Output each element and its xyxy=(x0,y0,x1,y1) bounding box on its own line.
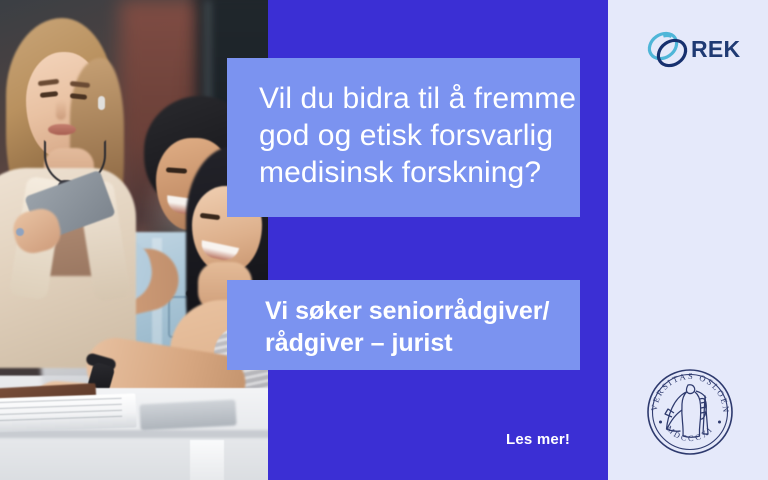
photo-keyboard xyxy=(139,400,236,431)
headline-box: Vil du bidra til å fremme god og etisk f… xyxy=(227,58,580,217)
photo-person-woman-nose xyxy=(56,100,66,120)
photo-person-woman-ring xyxy=(16,228,24,236)
photo-notebook-lines xyxy=(0,398,122,424)
photo-paper-sheet xyxy=(190,440,224,480)
read-more-link[interactable]: Les mer! xyxy=(506,431,570,448)
rek-wordmark: REK xyxy=(691,36,740,63)
headline-line-3: medisinsk forskning? xyxy=(259,154,550,191)
job-title-line-1: Vi søker seniorrådgiver/ xyxy=(265,295,550,327)
headline-line-1: Vil du bidra til å fremme xyxy=(259,80,550,117)
seal-top-text: UNIVERSITAS OSLOENSIS xyxy=(643,365,731,414)
job-title-box: Vi søker seniorrådgiver/ rådgiver – juri… xyxy=(227,280,580,370)
photo-person-woman-lips xyxy=(48,124,76,135)
recruitment-banner: Vil du bidra til å fremme god og etisk f… xyxy=(0,0,768,480)
job-title-line-2: rådgiver – jurist xyxy=(265,327,550,359)
photo-desk-edge xyxy=(0,430,268,438)
interlocking-rings-icon xyxy=(645,27,691,73)
photo-person-woman-earring xyxy=(98,96,105,110)
headline-line-2: god og etisk forsvarlig xyxy=(259,117,550,154)
rek-logo[interactable]: REK xyxy=(645,25,740,75)
uio-seal[interactable]: UNIVERSITAS OSLOENSIS MDCCCXI xyxy=(643,365,737,459)
svg-text:UNIVERSITAS OSLOENSIS: UNIVERSITAS OSLOENSIS xyxy=(643,365,731,414)
